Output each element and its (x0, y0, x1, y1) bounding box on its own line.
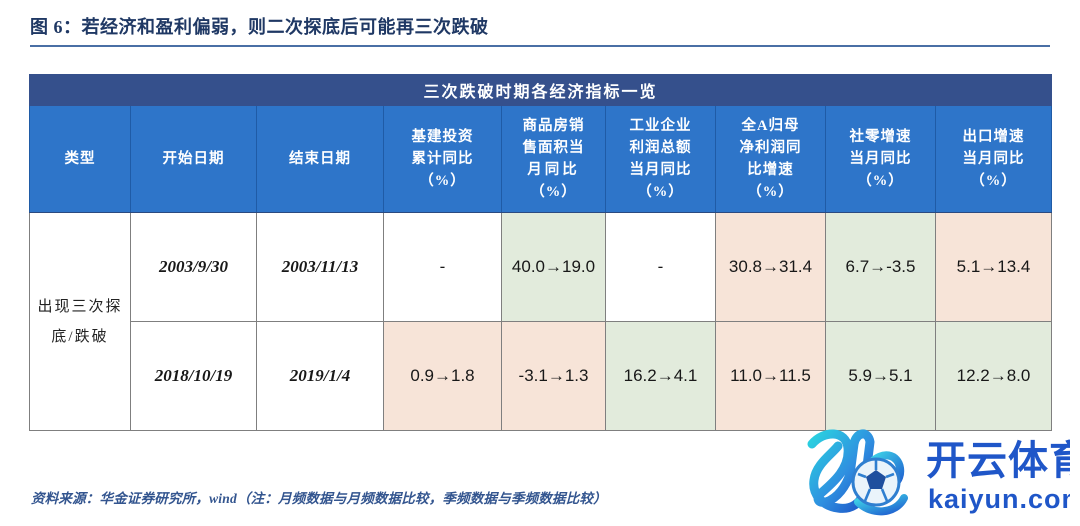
column-header-infrastructure-investment: 基建投资 累计同比 （%） (384, 106, 502, 213)
header-line: 社零增速 (826, 126, 935, 148)
watermark-brand-cn: 开云体育 (926, 439, 1070, 483)
economic-indicator-table: 三次跌破时期各经济指标一览 类型 开始日期 结束日期 基建投资 累计同比 （%）… (29, 74, 1052, 431)
cell-start-date: 2003/9/30 (131, 213, 257, 322)
header-line: 当月同比 (606, 159, 715, 181)
header-line: 工业企业 (606, 115, 715, 137)
cell-end-date: 2003/11/13 (257, 213, 384, 322)
kaiyun-logo-icon: 开云体育 kaiyun.com (798, 424, 1070, 520)
column-header-industrial-profit: 工业企业 利润总额 当月同比 （%） (606, 106, 716, 213)
cell-retail-sales-growth: 5.9→5.1 (826, 322, 936, 431)
cell-commercial-housing-sales: -3.1→1.3 (502, 322, 606, 431)
header-line: 出口增速 (936, 126, 1051, 148)
header-line: （%） (502, 181, 605, 203)
economic-indicator-table-wrapper: 三次跌破时期各经济指标一览 类型 开始日期 结束日期 基建投资 累计同比 （%）… (29, 74, 1051, 431)
header-line: 当月同比 (936, 148, 1051, 170)
cell-industrial-profit: - (606, 213, 716, 322)
watermark-brand-url: kaiyun.com (928, 484, 1070, 514)
cell-end-date: 2019/1/4 (257, 322, 384, 431)
figure-title-block: 图 6：若经济和盈利偏弱，则二次探底后可能再三次跌破 (30, 14, 1050, 47)
table-banner-row: 三次跌破时期各经济指标一览 (30, 75, 1052, 106)
column-header-type: 类型 (30, 106, 131, 213)
header-line: 月同比 (502, 159, 605, 181)
header-line: 利润总额 (606, 137, 715, 159)
header-line: 比增速 (716, 159, 825, 181)
header-line: 开始日期 (163, 151, 225, 167)
header-line: 售面积当 (502, 137, 605, 159)
column-header-start-date: 开始日期 (131, 106, 257, 213)
row-group-label: 出现三次探底/跌破 (30, 213, 131, 431)
header-line: 净利润同 (716, 137, 825, 159)
header-line: （%） (606, 181, 715, 203)
cell-infrastructure-investment: - (384, 213, 502, 322)
kaiyun-watermark: 开云体育 kaiyun.com (798, 424, 1070, 520)
column-header-retail-sales-growth: 社零增速 当月同比 （%） (826, 106, 936, 213)
title-divider (30, 45, 1050, 47)
header-line: （%） (716, 181, 825, 203)
header-line: 结束日期 (289, 151, 351, 167)
header-line: （%） (826, 170, 935, 192)
source-footnote: 资料来源：华金证券研究所，wind（注：月频数据与月频数据比较，季频数据与季频数… (31, 487, 607, 507)
header-line: 全A归母 (716, 115, 825, 137)
cell-start-date: 2018/10/19 (131, 322, 257, 431)
column-header-all-a-net-profit: 全A归母 净利润同 比增速 （%） (716, 106, 826, 213)
table-row: 出现三次探底/跌破 2003/9/30 2003/11/13 - 40.0→19… (30, 213, 1052, 322)
column-header-export-growth: 出口增速 当月同比 （%） (936, 106, 1052, 213)
header-line: 累计同比 (384, 148, 501, 170)
column-header-end-date: 结束日期 (257, 106, 384, 213)
page-title: 图 6：若经济和盈利偏弱，则二次探底后可能再三次跌破 (30, 14, 1050, 40)
header-line: 商品房销 (502, 115, 605, 137)
cell-all-a-net-profit: 30.8→31.4 (716, 213, 826, 322)
table-row: 2018/10/19 2019/1/4 0.9→1.8 -3.1→1.3 16.… (30, 322, 1052, 431)
cell-infrastructure-investment: 0.9→1.8 (384, 322, 502, 431)
header-line: 基建投资 (384, 126, 501, 148)
cell-commercial-housing-sales: 40.0→19.0 (502, 213, 606, 322)
table-header-row: 类型 开始日期 结束日期 基建投资 累计同比 （%） 商品房销 售面积当 月同比… (30, 106, 1052, 213)
header-line: 类型 (65, 151, 96, 167)
column-header-commercial-housing-sales: 商品房销 售面积当 月同比 （%） (502, 106, 606, 213)
cell-industrial-profit: 16.2→4.1 (606, 322, 716, 431)
header-line: （%） (936, 170, 1051, 192)
cell-export-growth: 5.1→13.4 (936, 213, 1052, 322)
header-line: （%） (384, 170, 501, 192)
cell-export-growth: 12.2→8.0 (936, 322, 1052, 431)
table-banner-title: 三次跌破时期各经济指标一览 (30, 75, 1052, 106)
cell-all-a-net-profit: 11.0→11.5 (716, 322, 826, 431)
cell-retail-sales-growth: 6.7→-3.5 (826, 213, 936, 322)
header-line: 当月同比 (826, 148, 935, 170)
